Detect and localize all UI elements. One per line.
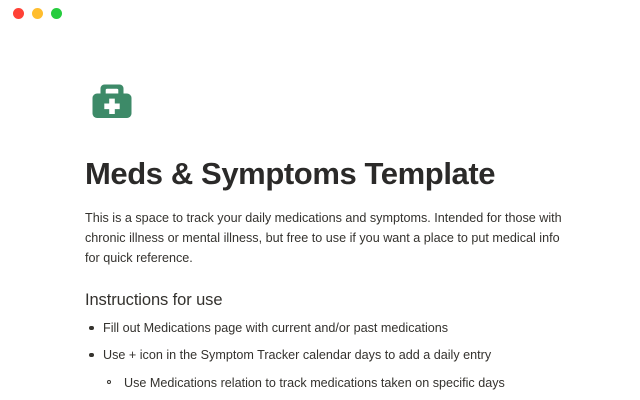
document-content: Meds & Symptoms Template This is a space… [85,26,570,400]
page-description[interactable]: This is a space to track your daily medi… [85,208,565,269]
list-item-label: Use + icon in the Symptom Tracker calend… [103,346,570,365]
list-item[interactable]: Use Medications relation to track medica… [103,374,570,393]
page-title[interactable]: Meds & Symptoms Template [85,156,570,192]
maximize-window-button[interactable] [51,8,62,19]
instructions-list: Fill out Medications page with current a… [85,319,570,400]
list-item[interactable]: Use + icon in the Symptom Tracker calend… [85,346,570,400]
minimize-window-button[interactable] [32,8,43,19]
section-heading-instructions[interactable]: Instructions for use [85,291,570,310]
instructions-sublist: Use Medications relation to track medica… [103,374,570,400]
window-controls [13,8,62,19]
close-window-button[interactable] [13,8,24,19]
document-page: Meds & Symptoms Template This is a space… [0,26,640,400]
list-item-label: Fill out Medications page with current a… [103,319,570,338]
app-window: Meds & Symptoms Template This is a space… [0,0,640,400]
medical-kit-icon[interactable] [85,74,139,128]
list-item[interactable]: Fill out Medications page with current a… [85,319,570,338]
window-titlebar [0,0,640,26]
